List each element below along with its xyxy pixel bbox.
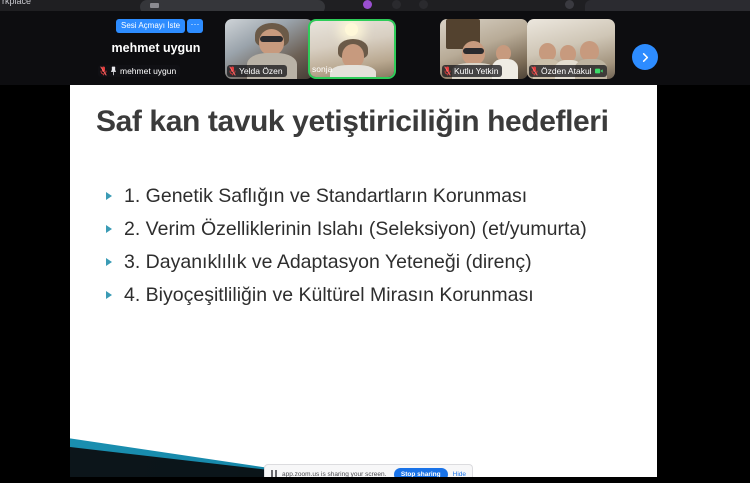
extension-icon-2[interactable] xyxy=(392,0,401,9)
ask-to-unmute-button[interactable]: Sesi Açmayı İste xyxy=(116,19,185,33)
list-item: 3. Dayanıklılık ve Adaptasyon Yeteneği (… xyxy=(102,249,622,276)
participant-filmstrip: Sesi Açmayı İste ··· mehmet uygun mehmet… xyxy=(0,11,750,85)
name-chip: sonja xyxy=(312,63,336,75)
chevron-right-icon xyxy=(640,52,651,63)
participant-tile-ozden-atakul[interactable]: Özden Atakul xyxy=(527,19,615,79)
list-item: 1. Genetik Saflığın ve Standartların Kor… xyxy=(102,183,622,210)
slide-bullet-list: 1. Genetik Saflığın ve Standartların Kor… xyxy=(102,183,622,315)
browser-side-panel xyxy=(585,0,750,11)
profile-icon[interactable] xyxy=(565,0,574,9)
slide-title: Saf kan tavuk yetiştiriciliğin hedefleri xyxy=(96,105,641,139)
browser-chrome-bar: rkplace xyxy=(0,0,750,11)
name-chip: Kutlu Yetkin xyxy=(442,65,502,77)
participant-tile-mehmet-uygun[interactable]: Sesi Açmayı İste ··· mehmet uygun mehmet… xyxy=(96,19,216,79)
light-source xyxy=(345,23,358,36)
participant-tile-sonja[interactable]: sonja xyxy=(308,19,396,79)
list-item: 2. Verim Özelliklerinin Islahı (Seleksiy… xyxy=(102,216,622,243)
browser-tab-title[interactable]: rkplace xyxy=(2,0,31,6)
shared-screen-stage: Saf kan tavuk yetiştiriciliğin hedefleri… xyxy=(0,85,750,483)
spotlight-participant-name: mehmet uygun xyxy=(96,41,216,55)
name-chip: Yelda Özen xyxy=(227,65,287,77)
extension-icon-1[interactable] xyxy=(363,0,372,9)
participant-name-label: Yelda Özen xyxy=(239,66,283,76)
participant-name-label: mehmet uygun xyxy=(120,66,176,76)
bullet-marker-icon xyxy=(106,192,112,200)
more-options-button[interactable]: ··· xyxy=(187,19,203,33)
participant-name-label: Özden Atakul xyxy=(541,66,592,76)
bullet-marker-icon xyxy=(106,258,112,266)
participant-name-label: Kutlu Yetkin xyxy=(454,66,498,76)
list-item: 4. Biyoçeşitliliğin ve Kültürel Mirasın … xyxy=(102,282,622,309)
participant-tile-kutlu-yetkin[interactable]: Kutlu Yetkin xyxy=(440,19,528,79)
participant-name-label: sonja xyxy=(312,64,332,74)
mic-muted-icon xyxy=(229,66,236,76)
name-chip: Özden Atakul xyxy=(529,65,607,77)
zoom-screenshare-window: rkplace Sesi Açmayı İste ··· mehmet uygu… xyxy=(0,0,750,483)
bullet-text: 4. Biyoçeşitliliğin ve Kültürel Mirasın … xyxy=(124,284,534,306)
menu-icon xyxy=(150,3,159,8)
pin-icon xyxy=(110,66,117,76)
browser-address-bar[interactable] xyxy=(140,0,325,11)
bullet-text: 1. Genetik Saflığın ve Standartların Kor… xyxy=(124,185,527,207)
next-participants-page-button[interactable] xyxy=(632,44,658,70)
name-chip: mehmet uygun xyxy=(98,65,180,77)
mic-muted-icon xyxy=(100,66,107,76)
bottom-edge xyxy=(0,477,750,483)
bullet-text: 2. Verim Özelliklerinin Islahı (Seleksiy… xyxy=(124,218,587,240)
participant-tile-yelda-ozen[interactable]: Yelda Özen xyxy=(225,19,313,79)
mic-muted-icon xyxy=(531,66,538,76)
bullet-marker-icon xyxy=(106,225,112,233)
extension-icon-3[interactable] xyxy=(419,0,428,9)
camera-on-icon xyxy=(595,67,603,75)
presentation-slide: Saf kan tavuk yetiştiriciliğin hedefleri… xyxy=(70,85,657,483)
mic-muted-icon xyxy=(444,66,451,76)
bullet-marker-icon xyxy=(106,291,112,299)
bullet-text: 3. Dayanıklılık ve Adaptasyon Yeteneği (… xyxy=(124,251,532,273)
